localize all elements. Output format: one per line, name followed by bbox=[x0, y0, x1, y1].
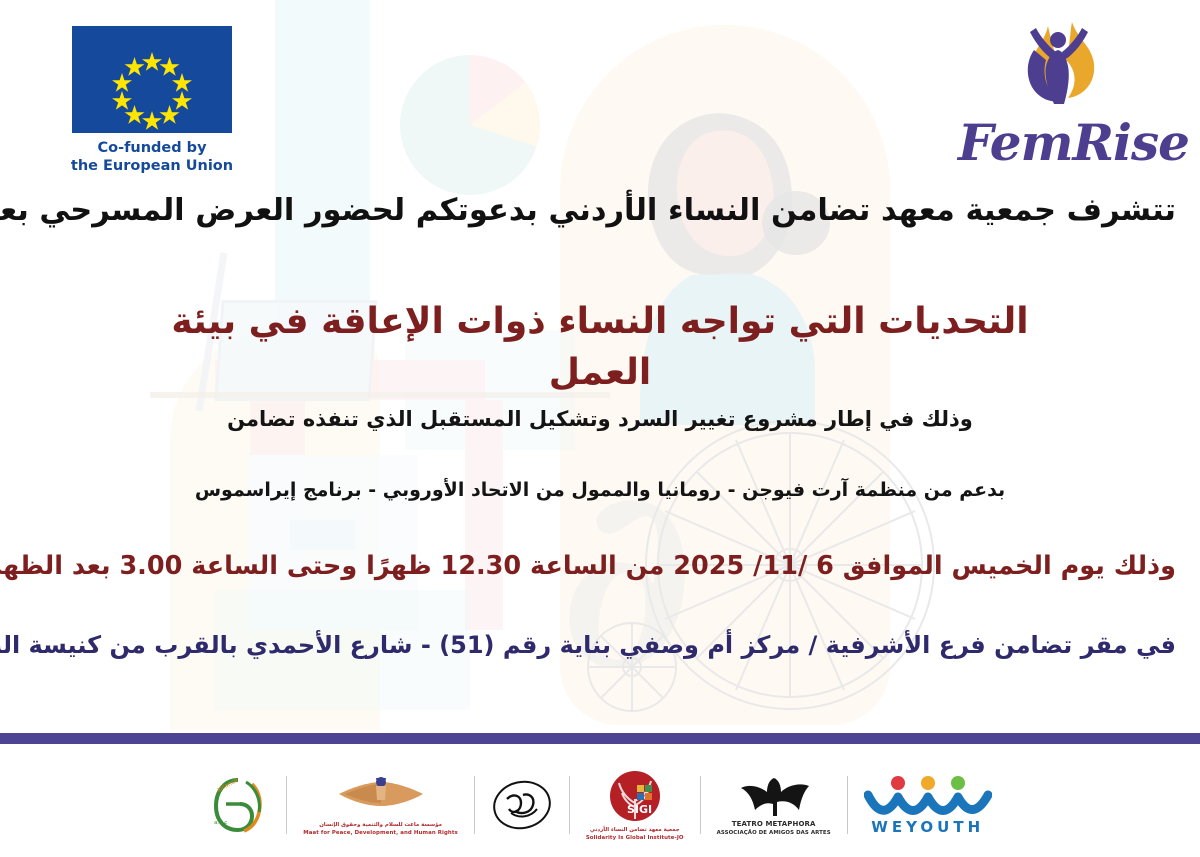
teatro-logo-label: TEATRO METAPHORA bbox=[732, 820, 816, 828]
svg-text:a.e.c: a.e.c bbox=[214, 820, 227, 826]
sigi-tree-logo: SIGI جمعية معهد تضامن النساء الأردني Sol… bbox=[570, 767, 700, 843]
svg-text:SIGI: SIGI bbox=[627, 803, 652, 816]
invitation-headline: تتشرف جمعية معهد تضامن النساء الأردني بد… bbox=[0, 193, 1200, 228]
sigi-logo-label-en: Solidarity Is Global Institute-JO bbox=[586, 835, 684, 841]
poster-text-content: تتشرف جمعية معهد تضامن النساء الأردني بد… bbox=[0, 0, 1200, 857]
place-line: في مقر تضامن فرع الأشرفية / مركز أم وصفي… bbox=[0, 631, 1200, 659]
play-title: التحديات التي تواجه النساء ذوات الإعاقة … bbox=[0, 296, 1200, 398]
sigi-logo-label-ar: جمعية معهد تضامن النساء الأردني bbox=[590, 827, 680, 833]
maat-logo-label-ar: مؤسسة ماعت للسلام والتنمية وحقوق الإنسان bbox=[319, 822, 442, 828]
datetime-line: وذلك يوم الخميس الموافق 6 /11/ 2025 من ا… bbox=[0, 551, 1200, 581]
veat-oval-logo bbox=[475, 767, 569, 843]
weyouth-logo: WEYOUTH bbox=[848, 767, 1008, 843]
event-poster: ∂ bbox=[0, 0, 1200, 857]
weyouth-wordmark: WEYOUTH bbox=[871, 818, 984, 836]
alliance-face-logo: alliance a.e.c bbox=[192, 767, 286, 843]
maat-logo-label-en: Maat for Peace, Development, and Human R… bbox=[303, 830, 458, 836]
teatro-logo-sublabel: ASSOCIAÇÃO DE AMIGOS DAS ARTES bbox=[717, 830, 831, 836]
teatro-metaphora-bat-logo: TEATRO METAPHORA ASSOCIAÇÃO DE AMIGOS DA… bbox=[701, 767, 847, 843]
svg-text:alliance: alliance bbox=[216, 777, 240, 794]
maat-winged-figure-logo: مؤسسة ماعت للسلام والتنمية وحقوق الإنسان… bbox=[287, 767, 474, 843]
project-line: وذلك في إطار مشروع تغيير السرد وتشكيل ال… bbox=[0, 407, 1200, 431]
purple-divider-band bbox=[0, 733, 1200, 744]
support-line: بدعم من منظمة آرت فيوجن - رومانيا والممو… bbox=[0, 479, 1200, 501]
partner-logo-strip: alliance a.e.c مؤسسة ماعت للسلام والتنمي… bbox=[0, 760, 1200, 850]
